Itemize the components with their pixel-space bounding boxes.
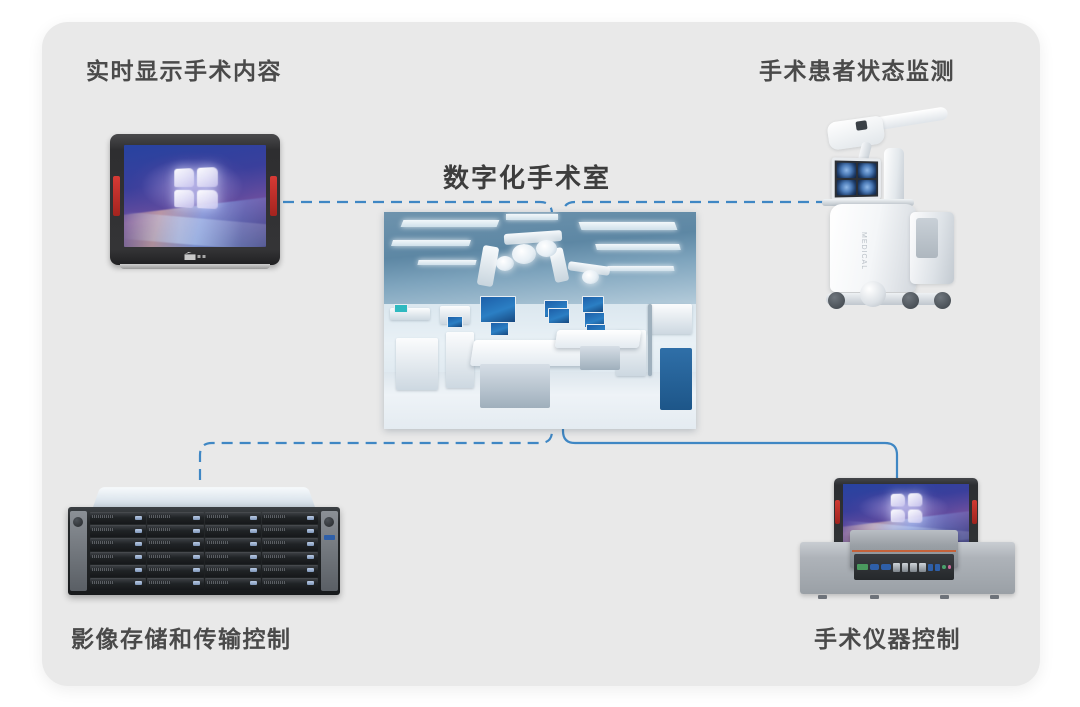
surgical-light bbox=[512, 244, 536, 264]
cart-detector-slot bbox=[916, 218, 938, 258]
or-monitor bbox=[447, 316, 463, 328]
surgical-light bbox=[536, 240, 557, 257]
device-industrial-monitor[interactable] bbox=[110, 134, 280, 273]
pc-tray-foot bbox=[940, 595, 949, 599]
ceiling-light-panel bbox=[401, 220, 500, 227]
windows-logo-icon bbox=[174, 167, 218, 209]
pc-side-accent bbox=[835, 500, 840, 524]
server-left-ear bbox=[70, 511, 87, 591]
cart-wheel bbox=[902, 292, 919, 309]
or-door-frame bbox=[648, 304, 652, 376]
audio-jack-icon bbox=[942, 565, 945, 569]
mic-jack-icon bbox=[948, 565, 951, 569]
cart-wheel bbox=[828, 292, 845, 309]
device-imaging-cart[interactable]: MEDICAL bbox=[812, 106, 972, 311]
windows-logo-icon bbox=[891, 493, 923, 523]
server-right-ear bbox=[321, 511, 338, 591]
drive-bay[interactable] bbox=[205, 552, 261, 564]
ceiling-light-panel bbox=[607, 266, 674, 271]
cart-display-screen bbox=[832, 157, 881, 200]
or-equipment bbox=[648, 304, 692, 334]
monitor-body bbox=[110, 134, 280, 265]
pc-tray-foot bbox=[870, 595, 879, 599]
usb-port-icon bbox=[935, 564, 940, 571]
drive-bay[interactable] bbox=[262, 512, 318, 524]
drive-bay[interactable] bbox=[205, 525, 261, 537]
or-bed-base bbox=[580, 346, 620, 370]
drive-bay[interactable] bbox=[147, 512, 203, 524]
drive-bay[interactable] bbox=[90, 552, 146, 564]
monitor-side-accent bbox=[113, 176, 120, 216]
node-label-display: 实时显示手术内容 bbox=[86, 52, 282, 86]
cart-ball-housing bbox=[860, 281, 886, 307]
drive-bay[interactable] bbox=[147, 525, 203, 537]
drive-bay[interactable] bbox=[262, 552, 318, 564]
lan-port-icon bbox=[893, 563, 900, 572]
usb-port-icon bbox=[928, 564, 933, 571]
cart-body bbox=[830, 204, 916, 292]
node-label-storage: 影像存储和传输控制 bbox=[71, 620, 292, 654]
drive-bay[interactable] bbox=[147, 565, 203, 577]
power-button-icon[interactable] bbox=[73, 517, 83, 527]
drive-bay[interactable] bbox=[90, 512, 146, 524]
ceiling-light-panel bbox=[417, 260, 476, 265]
or-bed-base bbox=[480, 364, 550, 408]
cart-lens-icon bbox=[855, 120, 867, 130]
drive-bay[interactable] bbox=[90, 525, 146, 537]
usb-port-icon bbox=[324, 535, 335, 540]
ceiling-light-panel bbox=[506, 214, 558, 220]
or-monitor bbox=[548, 308, 570, 324]
page-title: 数字化手术室 bbox=[443, 158, 611, 195]
pc-tray-foot bbox=[818, 595, 827, 599]
surgical-light bbox=[496, 256, 514, 271]
monitor-stand bbox=[120, 264, 270, 269]
node-label-patient-monitor: 手术患者状态监测 bbox=[759, 52, 955, 86]
drive-bay[interactable] bbox=[205, 565, 261, 577]
device-industrial-pc[interactable] bbox=[800, 478, 1015, 600]
drive-bay[interactable] bbox=[147, 552, 203, 564]
scan-image bbox=[837, 180, 856, 195]
drive-bay[interactable] bbox=[205, 512, 261, 524]
serial-port-icon bbox=[881, 564, 890, 570]
cart-scanner-head bbox=[826, 115, 885, 151]
drive-bay[interactable] bbox=[262, 578, 318, 590]
drive-bay[interactable] bbox=[205, 538, 261, 550]
ceiling-light-panel bbox=[391, 240, 471, 246]
node-label-instrument-control: 手术仪器控制 bbox=[814, 620, 961, 654]
server-drive-bays bbox=[90, 512, 318, 590]
cart-articulated-arm bbox=[873, 106, 948, 130]
drive-bay[interactable] bbox=[147, 578, 203, 590]
pc-side-accent bbox=[972, 500, 977, 524]
cart-wheel bbox=[934, 292, 951, 309]
drive-bay[interactable] bbox=[262, 525, 318, 537]
lan-port-icon bbox=[919, 563, 926, 572]
drive-bay[interactable] bbox=[205, 578, 261, 590]
drive-bay[interactable] bbox=[262, 538, 318, 550]
reset-button-icon[interactable] bbox=[324, 517, 334, 527]
terminal-block-icon bbox=[857, 564, 868, 570]
drive-bay[interactable] bbox=[90, 578, 146, 590]
ceiling-light-panel bbox=[579, 222, 678, 230]
drive-bay[interactable] bbox=[147, 538, 203, 550]
surgical-light bbox=[582, 270, 599, 284]
or-monitor bbox=[490, 322, 509, 336]
or-monitor bbox=[582, 296, 604, 313]
or-indicator bbox=[394, 304, 408, 313]
cart-brand-label: MEDICAL bbox=[860, 232, 867, 270]
lan-port-icon bbox=[902, 563, 909, 572]
pc-io-panel bbox=[854, 554, 954, 580]
monitor-brand-logo-icon bbox=[185, 252, 206, 260]
vga-port-icon bbox=[870, 564, 879, 570]
or-cabinet bbox=[396, 338, 438, 390]
lan-port-icon bbox=[910, 563, 917, 572]
scan-image bbox=[837, 163, 856, 178]
drive-bay[interactable] bbox=[90, 565, 146, 577]
pc-accent-stripe bbox=[852, 550, 956, 552]
operating-room-image bbox=[384, 212, 696, 429]
ceiling-light-panel bbox=[595, 244, 681, 250]
pc-tray-foot bbox=[990, 595, 999, 599]
scan-image bbox=[858, 163, 876, 178]
monitor-side-accent bbox=[270, 176, 277, 216]
device-storage-server[interactable] bbox=[68, 481, 340, 601]
drive-bay[interactable] bbox=[262, 565, 318, 577]
scan-image bbox=[858, 180, 876, 195]
drive-bay[interactable] bbox=[90, 538, 146, 550]
or-monitor bbox=[480, 296, 516, 323]
or-blue-cabinet bbox=[660, 348, 692, 410]
monitor-screen bbox=[124, 145, 266, 247]
